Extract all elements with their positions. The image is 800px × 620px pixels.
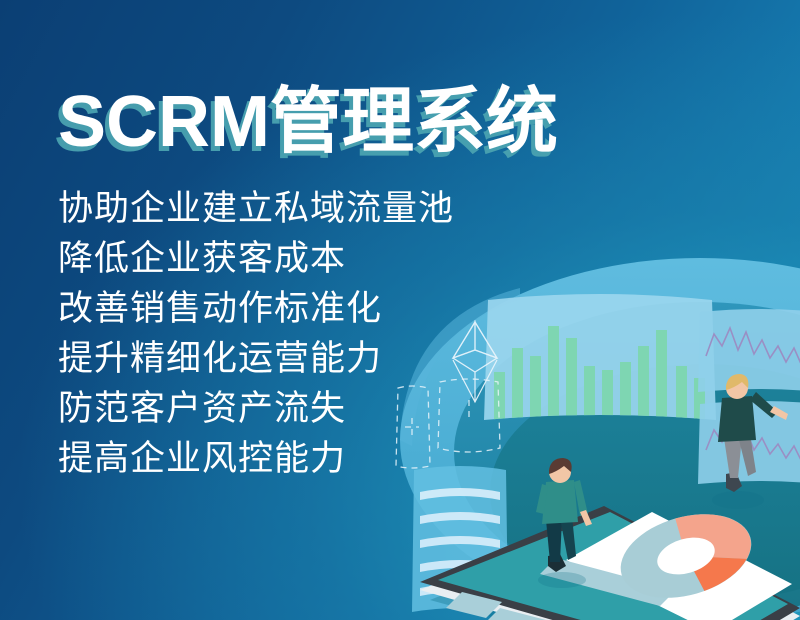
bar-chart-panel [484, 294, 716, 420]
illustration-container [0, 0, 800, 620]
scrm-promo-banner: SCRM管理系统 协助企业建立私域流量池 降低企业获客成本 改善销售动作标准化 … [0, 0, 800, 620]
line-chart-panel-upper [698, 309, 800, 392]
